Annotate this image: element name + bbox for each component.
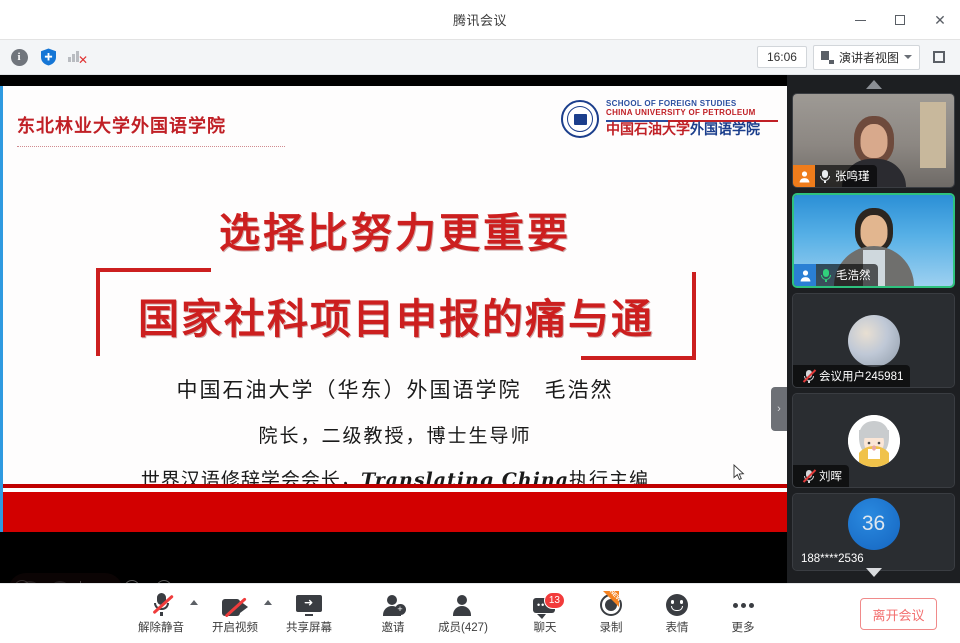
participant-tile[interactable]: 刘晖 [792, 393, 955, 488]
chevron-down-icon [904, 55, 912, 59]
new-feature-ribbon: NEW [603, 591, 619, 607]
control-label: 解除静音 [138, 619, 184, 635]
window-title-bar: 腾讯会议 ✕ [0, 0, 960, 40]
shared-screen-stage[interactable]: 东北林业大学外国语学院 SCHOOL OF FOREIGN STUDIES CH… [0, 75, 787, 583]
chevron-down-icon [866, 568, 882, 577]
mouse-cursor-icon [733, 464, 745, 481]
control-label: 开启视频 [212, 619, 258, 635]
slide-main-title: 选择比努力更重要 [3, 199, 787, 259]
window-title: 腾讯会议 [453, 10, 507, 29]
invite-person-icon: + [382, 592, 405, 616]
university-logo: SCHOOL OF FOREIGN STUDIES CHINA UNIVERSI… [561, 100, 778, 139]
presenter-line-2: 院长，二级教授，博士生导师 [3, 421, 787, 448]
members-icon [452, 592, 475, 616]
chevron-up-icon [866, 80, 882, 89]
slide-affiliation-header: 东北林业大学外国语学院 [17, 112, 287, 147]
participant-tiles: 张鸣瑾 毛浩然 [787, 93, 960, 571]
view-mode-label: 演讲者视图 [839, 49, 899, 66]
annotate-pointer-icon[interactable]: ✎ [91, 581, 111, 583]
members-button[interactable]: 成员(427) [426, 588, 500, 640]
participant-name-bar: 张鸣瑾 [793, 165, 877, 187]
presentation-slide: 东北林业大学外国语学院 SCHOOL OF FOREIGN STUDIES CH… [0, 86, 787, 532]
security-shield-icon [40, 48, 57, 66]
control-label: 聊天 [534, 619, 557, 635]
avatar: 36 [848, 498, 900, 550]
participant-name: 张鸣瑾 [835, 168, 870, 184]
info-icon: i [11, 49, 28, 66]
control-buttons: 解除静音 开启视频 ➜ 共享屏幕 + 邀请 [128, 588, 776, 640]
view-mode-selector[interactable]: 演讲者视图 [813, 45, 920, 70]
control-label: 邀请 [382, 619, 405, 635]
control-label: 录制 [600, 619, 623, 635]
tencent-meeting-window: 腾讯会议 ✕ i [0, 0, 960, 643]
maximize-button[interactable] [880, 0, 920, 40]
more-dots-icon [733, 592, 754, 616]
participant-panel: 张鸣瑾 毛浩然 [787, 75, 960, 583]
avatar [848, 415, 900, 467]
share-screen-button[interactable]: ➜ 共享屏幕 [276, 588, 342, 640]
panel-scroll-down-button[interactable] [787, 561, 960, 583]
share-screen-icon: ➜ [296, 592, 322, 616]
network-status-button[interactable]: ✕ [67, 47, 87, 67]
control-label: 共享屏幕 [286, 619, 332, 635]
chat-button[interactable]: ••• 13 聊天 [512, 588, 578, 640]
camera-off-icon [222, 592, 248, 616]
logo-cn-red: 中国石油大学 [606, 122, 690, 138]
sub-toolbar-right: 16:06 演讲者视图 [757, 45, 960, 70]
emoji-reaction-icon[interactable]: ☺ [20, 581, 40, 583]
unmute-button[interactable]: 解除静音 [128, 588, 194, 640]
logo-line-cn: 中国石油大学外国语学院 [606, 123, 778, 139]
collapse-panel-button[interactable]: › [771, 387, 787, 431]
mic-muted-icon [803, 469, 815, 483]
chat-bubble-icon[interactable]: ▪▪▪ [50, 581, 70, 583]
annotation-toolbar[interactable]: ☺ ▪▪▪ ✎ [8, 573, 123, 583]
minimize-button[interactable] [840, 0, 880, 40]
sub-toolbar-left: i ✕ [0, 47, 87, 67]
slide-subtitle: 国家社科项目申报的痛与通 [96, 285, 696, 345]
slide-header-text: 东北林业大学外国语学院 [17, 112, 287, 138]
network-signal-off-icon: ✕ [67, 49, 87, 65]
control-label: 表情 [666, 619, 689, 635]
avatar [848, 315, 900, 367]
emoji-button[interactable]: 表情 [644, 588, 710, 640]
zoom-icon[interactable]: ⌕ [124, 580, 140, 583]
control-label: 成员(427) [438, 619, 488, 635]
participant-tile[interactable]: 张鸣瑾 [792, 93, 955, 188]
chat-unread-badge: 13 [544, 592, 565, 609]
participant-name: 毛浩然 [836, 267, 871, 283]
window-controls: ✕ [840, 0, 960, 40]
fullscreen-button[interactable] [926, 46, 952, 68]
record-icon: NEW [600, 592, 622, 616]
invite-button[interactable]: + 邀请 [360, 588, 426, 640]
slide-presenter-block: 中国石油大学（华东）外国语学院 毛浩然 院长，二级教授，博士生导师 世界汉语修辞… [3, 374, 787, 492]
logo-cn-blue: 外国语学院 [690, 122, 760, 138]
more-icon[interactable]: ⋯ [156, 580, 172, 583]
close-button[interactable]: ✕ [920, 0, 960, 40]
participant-name-bar: 刘晖 [793, 465, 849, 487]
slide-subtitle-frame: 国家社科项目申报的痛与通 [96, 268, 696, 360]
meeting-control-bar: 解除静音 开启视频 ➜ 共享屏幕 + 邀请 [0, 583, 960, 643]
mic-muted-icon [153, 592, 170, 616]
slide-header-rule [17, 146, 285, 147]
leave-meeting-button[interactable]: 离开会议 [860, 598, 937, 630]
participant-tile[interactable]: 会议用户245981 [792, 293, 955, 388]
close-icon: ✕ [934, 12, 946, 29]
control-label: 更多 [732, 619, 755, 635]
emoji-icon [666, 592, 688, 616]
logo-text-block: SCHOOL OF FOREIGN STUDIES CHINA UNIVERSI… [606, 100, 778, 139]
participant-name-bar: 毛浩然 [794, 264, 878, 286]
security-button[interactable] [38, 47, 58, 67]
participant-name: 刘晖 [819, 468, 842, 484]
mic-speaking-icon [820, 268, 832, 282]
participant-tile[interactable]: 毛浩然 [792, 193, 955, 288]
panel-scroll-up-button[interactable] [787, 75, 960, 93]
chat-icon: ••• 13 [533, 592, 557, 616]
participant-name: 会议用户245981 [819, 368, 903, 384]
participant-name-bar: 会议用户245981 [793, 365, 910, 387]
logo-line-en-2: CHINA UNIVERSITY OF PETROLEUM [606, 109, 778, 118]
speaker-badge-icon [794, 264, 816, 286]
meeting-clock: 16:06 [757, 46, 807, 68]
start-video-button[interactable]: 开启视频 [202, 588, 268, 640]
participant-tile[interactable]: 36 188****2536 [792, 493, 955, 571]
speaker-view-icon [821, 51, 834, 64]
presenter-line-1: 中国石油大学（华东）外国语学院 毛浩然 [3, 374, 787, 404]
meeting-info-button[interactable]: i [9, 47, 29, 67]
meeting-sub-toolbar: i ✕ 16:06 [0, 40, 960, 75]
slide-footer-band [3, 484, 787, 532]
host-badge-icon [793, 165, 815, 187]
mic-on-icon [819, 169, 831, 183]
maximize-icon [895, 15, 905, 25]
university-seal-icon [561, 100, 599, 138]
record-button[interactable]: NEW 录制 [578, 588, 644, 640]
more-button[interactable]: 更多 [710, 588, 776, 640]
mic-muted-icon [803, 369, 815, 383]
minimize-icon [855, 20, 866, 21]
